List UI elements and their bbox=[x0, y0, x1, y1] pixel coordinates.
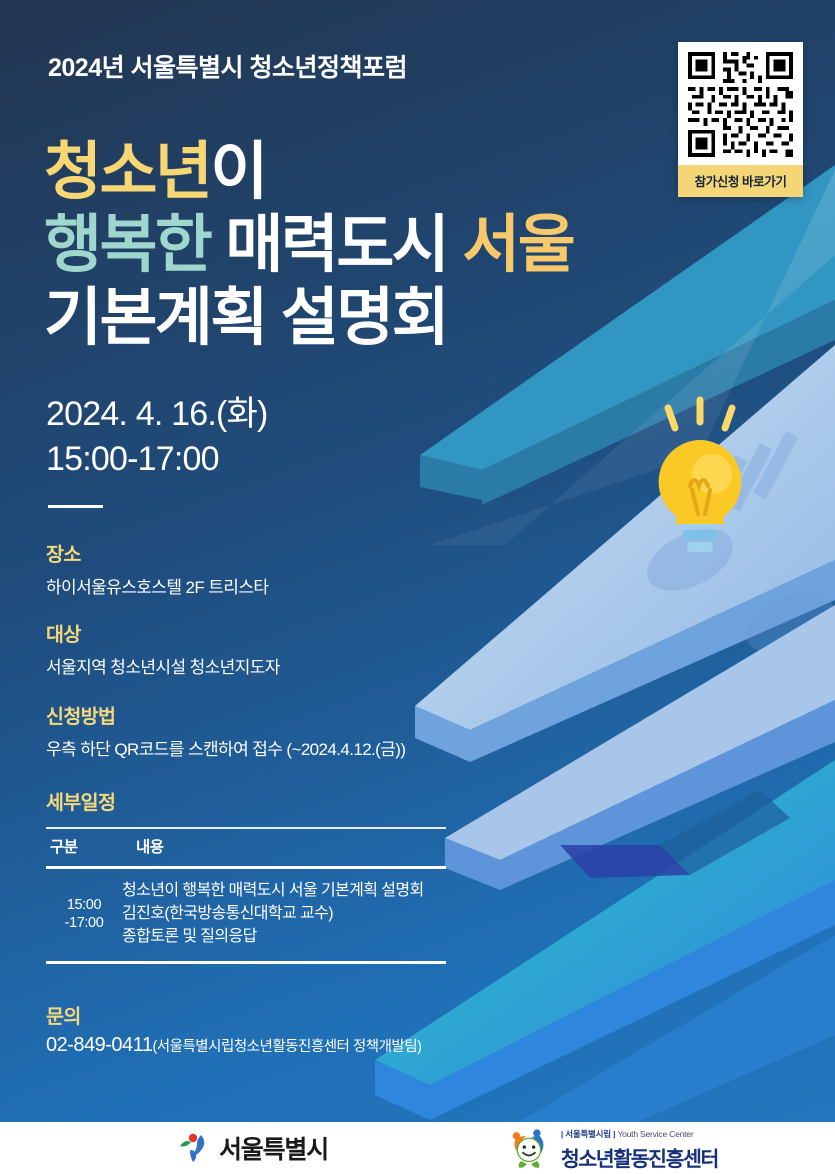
info-heading-apply: 신청방법 bbox=[46, 700, 516, 729]
ysc-logo-sup-kr: | 서울특별시립 | bbox=[561, 1129, 615, 1139]
headline-line-3: 기본계획 설명회 bbox=[44, 282, 684, 355]
contact-phone[interactable]: 02-849-0411 bbox=[46, 1034, 152, 1056]
schedule-table: 구분 내용 15:00 -17:00 청소년이 행복한 매력도시 서울 기본계획… bbox=[46, 827, 446, 964]
info-body-target: 서울지역 청소년시설 청소년지도자 bbox=[46, 653, 516, 678]
schedule-item: 김진호(한국방송통신대학교 교수) bbox=[122, 902, 446, 925]
footer-logo-bar: 서울특별시 | 서울특별시립 | Youth Service Center 청소… bbox=[0, 1122, 835, 1174]
contact-org: (서울특별시립청소년활동진흥센터 정책개발팀) bbox=[152, 1039, 421, 1055]
qr-card[interactable]: 참가신청 바로가기 bbox=[678, 42, 803, 197]
event-datetime: 2024. 4. 16.(화) 15:00-17:00 bbox=[46, 392, 268, 482]
headline-seg-1b: 이 bbox=[210, 137, 265, 207]
headline-seg-2c: 서울 bbox=[462, 210, 573, 280]
info-block-apply: 신청방법 우측 하단 QR코드를 스캔하여 접수 (~2024.4.12.(금)… bbox=[46, 700, 516, 760]
youth-service-center-logo-icon bbox=[508, 1126, 551, 1170]
schedule-item: 종합토론 및 질의응답 bbox=[122, 925, 446, 948]
ysc-logo-name: 청소년활동진흥센터 bbox=[561, 1148, 718, 1171]
info-body-apply: 우측 하단 QR코드를 스캔하여 접수 (~2024.4.12.(금)) bbox=[46, 735, 516, 760]
contact-section: 문의 02-849-0411(서울특별시립청소년활동진흥센터 정책개발팀) bbox=[46, 1000, 516, 1057]
event-poster: 2024년 서울특별시 청소년정책포럼 bbox=[0, 0, 835, 1174]
qr-label[interactable]: 참가신청 바로가기 bbox=[678, 165, 803, 197]
seoul-city-logo-icon bbox=[176, 1133, 210, 1163]
event-time: 15:00-17:00 bbox=[46, 437, 268, 482]
table-row: 15:00 -17:00 청소년이 행복한 매력도시 서울 기본계획 설명회 김… bbox=[46, 868, 446, 963]
info-block-target: 대상 서울지역 청소년시설 청소년지도자 bbox=[46, 618, 516, 678]
event-date: 2024. 4. 16.(화) bbox=[46, 392, 268, 437]
contact-heading: 문의 bbox=[46, 1000, 516, 1029]
seoul-city-logo: 서울특별시 bbox=[176, 1130, 328, 1166]
info-heading-target: 대상 bbox=[46, 618, 516, 647]
cell-content: 청소년이 행복한 매력도시 서울 기본계획 설명회 김진호(한국방송통신대학교 … bbox=[122, 868, 446, 963]
info-block-place: 장소 하이서울유스호스텔 2F 트리스타 bbox=[46, 538, 516, 598]
page-title: 청소년이 행복한 매력도시 서울 기본계획 설명회 bbox=[44, 136, 684, 355]
headline-seg-1a: 청소년 bbox=[44, 137, 210, 207]
qr-code-icon[interactable] bbox=[684, 48, 797, 161]
ysc-logo-sup-en: Youth Service Center bbox=[617, 1129, 693, 1139]
seoul-city-logo-text: 서울특별시 bbox=[219, 1130, 328, 1166]
headline-line-1: 청소년이 bbox=[44, 136, 684, 209]
ysc-logo: | 서울특별시립 | Youth Service Center 청소년활동진흥센… bbox=[508, 1124, 835, 1172]
lightbulb-icon bbox=[659, 400, 742, 552]
table-header-row: 구분 내용 bbox=[46, 828, 446, 868]
schedule-heading: 세부일정 bbox=[46, 786, 446, 815]
info-heading-place: 장소 bbox=[46, 538, 516, 567]
info-body-place: 하이서울유스호스텔 2F 트리스타 bbox=[46, 573, 516, 598]
contact-line: 02-849-0411(서울특별시립청소년활동진흥센터 정책개발팀) bbox=[46, 1034, 516, 1057]
ysc-logo-sup: | 서울특별시립 | Youth Service Center bbox=[561, 1129, 694, 1139]
event-kicker: 2024년 서울특별시 청소년정책포럼 bbox=[48, 48, 407, 84]
schedule-section: 세부일정 구분 내용 15:00 -17:00 청소년이 행복한 매력도시 서울… bbox=[46, 786, 446, 964]
column-header-content: 내용 bbox=[122, 828, 446, 868]
cell-time: 15:00 -17:00 bbox=[46, 868, 122, 963]
column-header-time: 구분 bbox=[46, 828, 122, 868]
headline-seg-2b: 매력도시 bbox=[225, 210, 447, 280]
section-divider bbox=[48, 505, 103, 508]
headline-seg-2a: 행복한 bbox=[44, 210, 210, 280]
ysc-logo-text: | 서울특별시립 | Youth Service Center 청소년활동진흥센… bbox=[561, 1124, 835, 1172]
headline-line-2: 행복한 매력도시 서울 bbox=[44, 209, 684, 282]
schedule-item: 청소년이 행복한 매력도시 서울 기본계획 설명회 bbox=[122, 879, 446, 902]
